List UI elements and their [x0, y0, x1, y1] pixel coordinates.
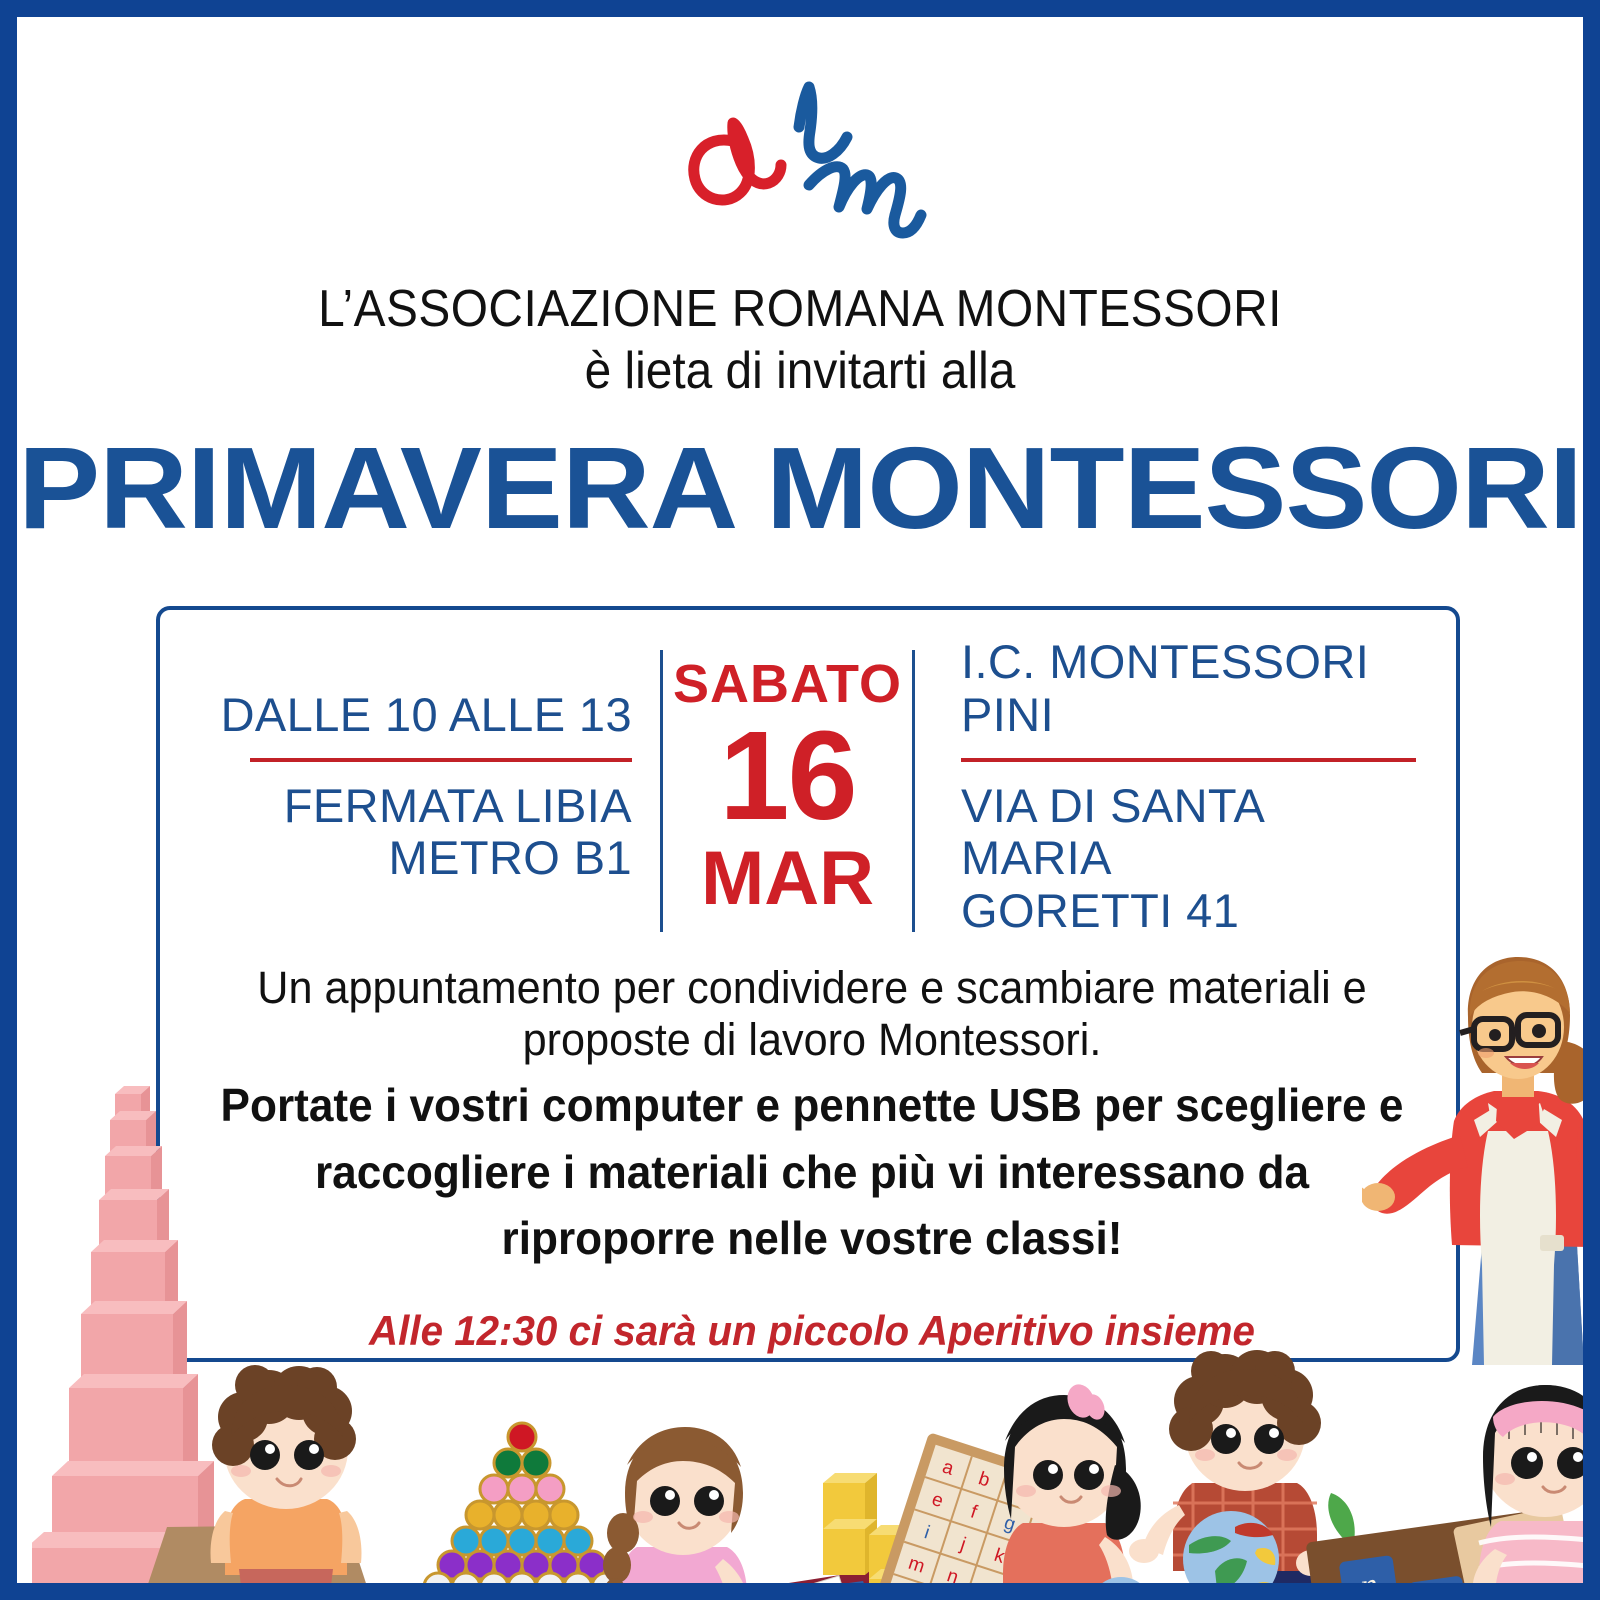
instruction-line-2: raccogliere i materiali che più vi inter…	[215, 1145, 1409, 1199]
details-column-time: DALLE 10 ALLE 13 FERMATA LIBIA METRO B1	[160, 632, 660, 942]
venue-name: I.C. MONTESSORI PINI	[961, 636, 1416, 741]
event-day-number: 16	[673, 713, 902, 839]
poster-root: L’ASSOCIAZIONE ROMANA MONTESSORI è lieta…	[0, 0, 1600, 1600]
instruction-line-1: Portate i vostri computer e pennette USB…	[215, 1078, 1409, 1132]
venue-address-line2: GORETTI 41	[961, 885, 1416, 938]
event-details-box: DALLE 10 ALLE 13 FERMATA LIBIA METRO B1 …	[156, 606, 1460, 1362]
svg-text:b: b	[1498, 1595, 1520, 1600]
invite-subtitle: è lieta di invitarti alla	[80, 341, 1521, 401]
instruction-line-3: riproporre nelle vostre classi!	[215, 1211, 1409, 1265]
transit-stop: FERMATA LIBIA	[220, 780, 632, 833]
intro-line-1: Un appuntamento per condividere e scambi…	[215, 962, 1409, 1014]
svg-text:3000: 3000	[801, 1581, 833, 1600]
svg-text:2000: 2000	[849, 1591, 881, 1600]
event-details-grid: DALLE 10 ALLE 13 FERMATA LIBIA METRO B1 …	[160, 632, 1456, 942]
divider-red-left	[250, 758, 632, 762]
page-title: PRIMAVERA MONTESSORI	[0, 421, 1600, 555]
intro-line-2: proposte di lavoro Montessori.	[215, 1014, 1409, 1066]
svg-text:!: !	[1431, 1587, 1447, 1600]
children-illustration-band: 3000 2000 1000	[17, 1297, 1600, 1600]
details-column-venue: I.C. MONTESSORI PINI VIA DI SANTA MARIA …	[915, 632, 1456, 942]
association-name: L’ASSOCIAZIONE ROMANA MONTESSORI	[80, 279, 1521, 339]
arm-cursive-logo	[677, 65, 957, 250]
svg-text:p: p	[1017, 1589, 1034, 1600]
divider-red-right	[961, 758, 1416, 762]
svg-text:q: q	[898, 1586, 915, 1600]
venue-address-line1: VIA DI SANTA MARIA	[961, 780, 1416, 885]
event-month: MAR	[673, 841, 902, 917]
transit-line: METRO B1	[220, 832, 632, 885]
event-time: DALLE 10 ALLE 13	[220, 689, 632, 742]
details-column-date: SABATO 16 MAR	[663, 632, 912, 942]
event-weekday: SABATO	[673, 657, 902, 711]
